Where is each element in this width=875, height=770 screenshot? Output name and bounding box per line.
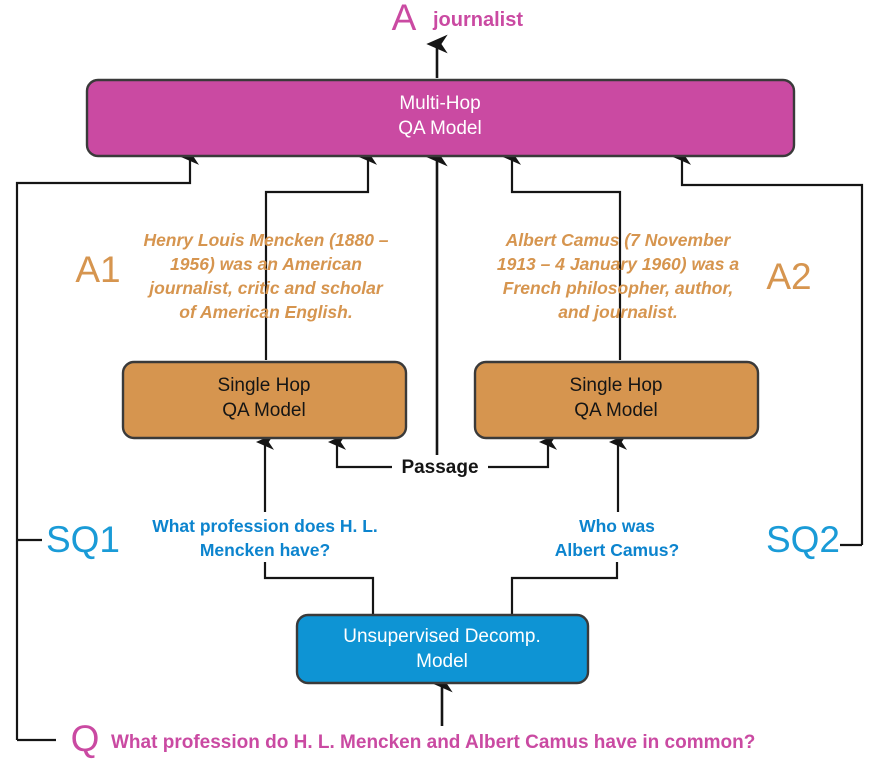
question-text: What profession do H. L. Mencken and Alb… <box>111 732 755 753</box>
sub-question-1-line-1: What profession does H. L. <box>152 516 378 536</box>
connector-passage-to-singlehop-right <box>487 442 548 467</box>
answer2-tag: A2 <box>766 256 811 297</box>
single-hop-qa-model-right-box[interactable]: Single Hop QA Model <box>475 362 758 438</box>
single-hop-right-label-line2: QA Model <box>574 400 657 421</box>
answer2-line-3: French philosopher, author, <box>503 278 733 298</box>
question-tag: Q <box>71 718 100 759</box>
sub-question-1-line-2: Mencken have? <box>200 540 330 560</box>
sub-question-1-text: What profession does H. L. Mencken have? <box>152 516 378 560</box>
multi-hop-qa-model-box[interactable]: Multi-Hop QA Model <box>87 80 794 156</box>
decomp-label-line2: Model <box>416 651 468 672</box>
multi-hop-label-line1: Multi-Hop <box>399 93 480 114</box>
sub-question-2-line-2: Albert Camus? <box>555 540 679 560</box>
single-hop-qa-model-left-box[interactable]: Single Hop QA Model <box>123 362 406 438</box>
passage-label: Passage <box>401 457 478 478</box>
answer2-line-1: Albert Camus (7 November <box>505 230 732 250</box>
connector-decomp-to-sq1 <box>265 562 373 614</box>
answer2-line-2: 1913 – 4 January 1960) was a <box>497 254 740 274</box>
answer1-line-1: Henry Louis Mencken (1880 – <box>143 230 388 250</box>
multi-hop-label-line2: QA Model <box>398 118 481 139</box>
answer-value: journalist <box>432 9 523 31</box>
connector-right-margin-bus <box>682 157 862 545</box>
answer1-tag: A1 <box>75 249 120 290</box>
sub-question-2-line-1: Who was <box>579 516 655 536</box>
figure-canvas: A journalist Multi-Hop QA Model A1 Henry… <box>0 0 875 770</box>
unsupervised-decomp-model-box[interactable]: Unsupervised Decomp. Model <box>297 615 588 683</box>
answer1-line-4: of American English. <box>179 302 352 322</box>
single-hop-right-label-line1: Single Hop <box>570 375 663 396</box>
answer1-line-2: 1956) was an American <box>170 254 362 274</box>
sub-question-2-text: Who was Albert Camus? <box>555 516 679 560</box>
single-hop-left-label-line1: Single Hop <box>218 375 311 396</box>
sub-question-2-tag: SQ2 <box>766 519 840 560</box>
answer-tag-a: A <box>392 0 417 38</box>
single-hop-left-label-line2: QA Model <box>222 400 305 421</box>
answer1-line-3: journalist, critic and scholar <box>147 278 384 298</box>
answer2-line-4: and journalist. <box>558 302 678 322</box>
connector-decomp-to-sq2 <box>512 562 617 614</box>
sub-question-1-tag: SQ1 <box>46 519 120 560</box>
connector-passage-to-singlehop-left <box>337 442 393 467</box>
decomp-label-line1: Unsupervised Decomp. <box>343 626 540 647</box>
diagram-svg: A journalist Multi-Hop QA Model A1 Henry… <box>0 0 875 770</box>
answer2-text: Albert Camus (7 November 1913 – 4 Januar… <box>497 230 740 322</box>
